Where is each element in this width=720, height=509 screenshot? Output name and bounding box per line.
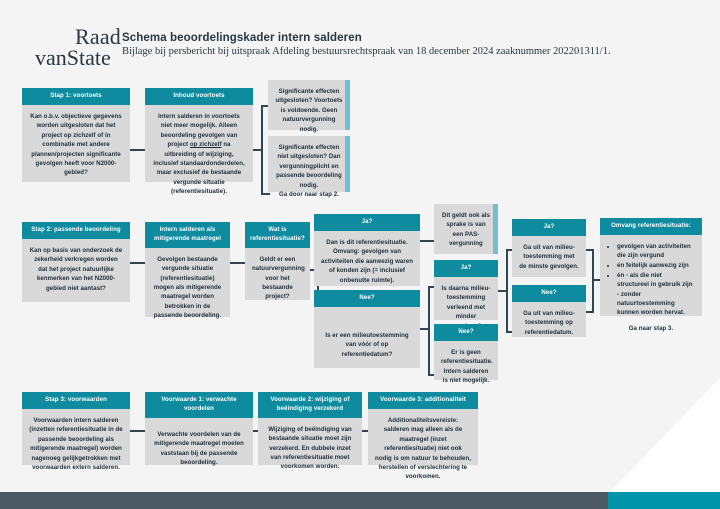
box-stap-1-voortoets[interactable]: Stap 1: voortoets Kan o.b.v. objectieve … bbox=[22, 88, 130, 182]
box-body: Dit geldt ook als sprake is van een PAS-… bbox=[434, 204, 498, 256]
box-header: Nee? bbox=[512, 285, 586, 302]
connector-step3-vw1 bbox=[130, 430, 145, 432]
box-significante-effecten-uitgesloten[interactable]: Significante effecten uitgesloten? Voort… bbox=[268, 80, 350, 130]
page-title: Schema beoordelingskader intern salderen bbox=[122, 32, 692, 44]
box-header: Voorwaarde 1: verwachte voordelen bbox=[145, 392, 253, 418]
box-nee-milieutoestemming[interactable]: Nee? Is er een milieutoestemming van vóó… bbox=[314, 290, 420, 368]
box-body: Is er een milieutoestemming van vóór of … bbox=[314, 307, 420, 366]
box-header: Omvang referentiesituatie: bbox=[600, 218, 702, 235]
box-voorwaarde-1[interactable]: Voorwaarde 1: verwachte voordelen Verwac… bbox=[145, 392, 253, 465]
list-item: én - als die niet structureel in gebruik… bbox=[617, 271, 695, 317]
logo-line-2: vanState bbox=[35, 47, 125, 68]
box-body: gevolgen van activiteiten die zijn vergu… bbox=[600, 235, 702, 341]
box-nee-referentiedatum[interactable]: Nee? Ga uit van milieu-toestemming op re… bbox=[512, 285, 586, 337]
box-body: Er is geen referentiesituatie. Intern sa… bbox=[434, 341, 498, 393]
logo-line-1: Raad bbox=[35, 26, 125, 47]
box-body: Verwachte voordelen van de mitigerende m… bbox=[145, 418, 253, 475]
connector-ja2-vertical bbox=[506, 249, 508, 333]
box-header: Ja? bbox=[434, 260, 498, 277]
footer-teal-accent bbox=[608, 492, 720, 509]
list-item: gevolgen van activiteiten die zijn vergu… bbox=[617, 242, 695, 260]
box-body: Wijziging of beëindiging van bestaande s… bbox=[258, 418, 362, 479]
box-inhoud-voortoets[interactable]: Inhoud voortoets Intern salderen in voor… bbox=[145, 88, 253, 182]
body-main: Dan is dit referentiesituatie. Omvang: g… bbox=[321, 239, 413, 284]
box-header: Stap 1: voortoets bbox=[22, 88, 130, 105]
connector-nee3-merge bbox=[586, 311, 594, 313]
diagram-canvas: Raad vanState Schema beoordelingskader i… bbox=[0, 0, 720, 509]
box-body: Geldt er een natuurvergunning voor het b… bbox=[245, 248, 310, 309]
body-underlined: op zichzelf bbox=[190, 141, 222, 148]
box-body: Significante effecten niet uitgesloten? … bbox=[268, 136, 350, 207]
footer-bar bbox=[0, 492, 720, 509]
box-stap-2-passende-beoordeling[interactable]: Stap 2: passende beoordeling Kan op basi… bbox=[22, 222, 130, 302]
body-part-b: na uitbreiding of wijziging, inclusief s… bbox=[153, 141, 245, 195]
connector-mitig-watis bbox=[230, 262, 245, 264]
box-header: Nee? bbox=[314, 290, 420, 307]
box-ja-milieutoestemming-minder-gevolgen[interactable]: Ja? Is daarna milieu-toestemming verleen… bbox=[434, 260, 498, 320]
box-wat-is-referentiesituatie[interactable]: Wat is referentiesituatie? Geldt er een … bbox=[245, 222, 310, 300]
box-header: Stap 3: voorwaarden bbox=[22, 392, 130, 409]
list-item: én feitelijk aanwezig zijn bbox=[617, 261, 695, 270]
connector-inhoud-vertical bbox=[261, 105, 263, 195]
connector-step1-inhoud bbox=[130, 149, 145, 151]
page-subtitle: Bijlage bij persbericht bij uitspraak Af… bbox=[122, 46, 692, 57]
box-body: Ga uit van milieu-toestemming met de min… bbox=[512, 236, 586, 278]
box-body: Gevolgen bestaande vergunde situatie (re… bbox=[145, 248, 230, 328]
box-body: Additionaliteitsvereiste: salderen mag a… bbox=[368, 409, 478, 489]
box-header: Voorwaarde 2: wijziging of beëindiging v… bbox=[258, 392, 362, 418]
box-ja-minste-gevolgen[interactable]: Ja? Ga uit van milieu-toestemming met de… bbox=[512, 219, 586, 277]
box-ja-referentiesituatie[interactable]: Ja? Dan is dit referentiesituatie. Omvan… bbox=[314, 214, 420, 286]
raad-van-state-logo: Raad vanState bbox=[35, 26, 125, 69]
box-body: Significante effecten uitgesloten? Voort… bbox=[268, 80, 350, 141]
connector-nee1-vertical bbox=[428, 286, 430, 376]
box-body: Kan o.b.v. objectieve gegevens worden ui… bbox=[22, 105, 130, 185]
connector-step2-mitig bbox=[130, 262, 145, 264]
box-significante-effecten-niet-uitgesloten[interactable]: Significante effecten niet uitgesloten? … bbox=[268, 136, 350, 192]
omvang-footer: Ga naar stap 3. bbox=[607, 324, 695, 333]
box-header: Voorwaarde 3: additionaliteit bbox=[368, 392, 478, 409]
box-body: Ga uit van milieu-toestemming op referen… bbox=[512, 302, 586, 344]
box-intern-salderen-mitigerende-maatregel[interactable]: Intern salderen als mitigerende maatrege… bbox=[145, 222, 230, 317]
box-header: Intern salderen als mitigerende maatrege… bbox=[145, 222, 230, 248]
box-header: Inhoud voortoets bbox=[145, 88, 253, 105]
omvang-bullet-list: gevolgen van activiteiten die zijn vergu… bbox=[607, 242, 695, 317]
box-body: Intern salderen in voortoets niet meer m… bbox=[145, 105, 253, 204]
box-nee-geen-referentiesituatie[interactable]: Nee? Er is geen referentiesituatie. Inte… bbox=[434, 324, 498, 380]
connector-ja1-pas bbox=[420, 240, 434, 242]
box-pas-vergunning[interactable]: Dit geldt ook als sprake is van een PAS-… bbox=[434, 204, 498, 254]
document-title-block: Schema beoordelingskader intern salderen… bbox=[122, 32, 692, 57]
box-voorwaarde-3[interactable]: Voorwaarde 3: additionaliteit Additional… bbox=[368, 392, 478, 465]
box-omvang-referentiesituatie[interactable]: Omvang referentiesituatie: gevolgen van … bbox=[600, 218, 702, 316]
box-header: Nee? bbox=[434, 324, 498, 341]
box-voorwaarde-2[interactable]: Voorwaarde 2: wijziging of beëindiging v… bbox=[258, 392, 362, 465]
box-header: Stap 2: passende beoordeling bbox=[22, 222, 130, 239]
box-header: Ja? bbox=[314, 214, 420, 231]
box-body: Kan op basis van onderzoek de zekerheid … bbox=[22, 239, 130, 300]
box-header: Ja? bbox=[512, 219, 586, 236]
box-body: Voorwaarden intern salderen (inzetten re… bbox=[22, 409, 130, 480]
box-stap-3-voorwaarden[interactable]: Stap 3: voorwaarden Voorwaarden intern s… bbox=[22, 392, 130, 465]
box-header: Wat is referentiesituatie? bbox=[245, 222, 310, 248]
